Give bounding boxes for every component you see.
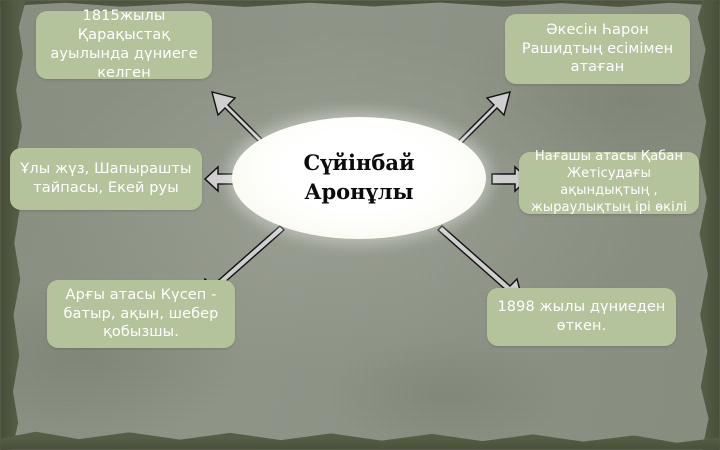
node-maternal-grandfather[interactable]: Нағашы атасы Қабан Жетісудағы ақындықтың… [519,152,699,214]
node-death-year[interactable]: 1898 жылы дүниеден өткен. [487,288,676,346]
center-node-line2: Аронұлы [303,178,414,207]
node-father-name[interactable]: Әкесін Һарон Рашидтың есімімен атаған [505,14,690,84]
node-father-name-label: Әкесін Һарон Рашидтың есімімен атаған [511,21,684,78]
center-node-line1: Сүйінбай [303,149,414,178]
center-node-subject[interactable]: Сүйінбай Аронұлы [232,117,486,239]
node-maternal-grandfather-label: Нағашы атасы Қабан Жетісудағы ақындықтың… [525,149,693,217]
node-birth-year-place[interactable]: 1815жылы Қарақыстақ ауылында дүниеге кел… [36,11,212,79]
node-tribe-lineage[interactable]: Ұлы жүз, Шапырашты тайпасы, Екей руы [10,148,202,210]
node-death-year-label: 1898 жылы дүниеден өткен. [493,298,670,336]
slide-canvas: 1815жылы Қарақыстақ ауылында дүниеге кел… [0,0,720,450]
node-ancestor-kusep[interactable]: Арғы атасы Күсеп - батыр, ақын, шебер қо… [47,280,235,348]
node-ancestor-kusep-label: Арғы атасы Күсеп - батыр, ақын, шебер қо… [53,286,229,343]
node-tribe-lineage-label: Ұлы жүз, Шапырашты тайпасы, Екей руы [16,160,196,198]
node-birth-year-place-label: 1815жылы Қарақыстақ ауылында дүниеге кел… [42,7,206,82]
